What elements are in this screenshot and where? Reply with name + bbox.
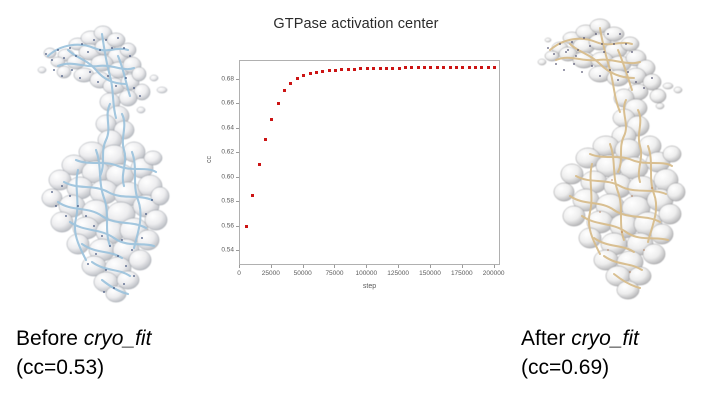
y-tick-label: 0.56 [221,222,234,229]
y-tick-label: 0.60 [221,173,234,180]
data-point [321,70,324,73]
caption-after-value: (cc=0.69) [521,354,639,383]
data-point [455,66,458,69]
x-tick-label: 50000 [294,270,312,277]
x-tick-mark [430,265,431,268]
data-point [461,66,464,69]
density-map-after-svg [512,0,712,320]
data-point [429,66,432,69]
data-point [359,67,362,70]
data-point [277,102,280,105]
data-point [309,72,312,75]
data-point [391,67,394,70]
data-point [474,66,477,69]
y-tick-label: 0.66 [221,100,234,107]
caption-after-prefix: After [521,327,571,350]
y-tick-label: 0.54 [221,247,234,254]
y-tick-label: 0.64 [221,124,234,131]
x-tick-mark [303,265,304,268]
data-point [372,67,375,70]
data-point [417,66,420,69]
data-point [404,66,407,69]
data-point [493,66,496,69]
data-point [353,68,356,71]
data-point [347,68,350,71]
x-tick-label: 125000 [387,270,409,277]
x-tick-label: 175000 [451,270,473,277]
x-tick-mark [334,265,335,268]
caption-before: Before cryo_fit (cc=0.53) [16,325,151,383]
x-tick-mark [239,265,240,268]
data-point [302,74,305,77]
data-point [442,66,445,69]
x-tick-label: 75000 [325,270,343,277]
data-point [423,66,426,69]
caption-before-value: (cc=0.53) [16,354,151,383]
data-point [283,89,286,92]
data-point [366,67,369,70]
data-point [289,82,292,85]
data-point [334,69,337,72]
caption-after-program: cryo_fit [571,327,639,350]
data-point [245,225,248,228]
data-point [487,66,490,69]
x-axis-label: step [239,283,500,290]
data-point [296,77,299,80]
y-tick-label: 0.58 [221,198,234,205]
data-point [251,194,254,197]
data-point [270,118,273,121]
x-tick-mark [494,265,495,268]
y-tick-label: 0.68 [221,75,234,82]
data-point [449,66,452,69]
data-point [385,67,388,70]
cc-vs-step-chart: GTPase activation center cc step 0.540.5… [200,8,512,308]
data-point [340,68,343,71]
data-point [468,66,471,69]
caption-after: After cryo_fit (cc=0.69) [521,325,639,383]
data-point [264,138,267,141]
data-point [315,71,318,74]
caption-before-prefix: Before [16,327,84,350]
data-point [379,67,382,70]
x-tick-mark [398,265,399,268]
y-axis-label: cc [206,156,213,163]
structure-render-after [512,0,712,320]
x-tick-mark [462,265,463,268]
x-tick-label: 25000 [262,270,280,277]
data-point [480,66,483,69]
x-tick-mark [366,265,367,268]
x-tick-label: 0 [237,270,241,277]
chart-title: GTPase activation center [200,16,512,32]
x-tick-label: 150000 [419,270,441,277]
x-tick-label: 200000 [483,270,505,277]
data-point [436,66,439,69]
x-tick-mark [271,265,272,268]
data-point [258,163,261,166]
data-point [410,66,413,69]
structure-render-before [6,0,206,320]
plot-area [239,60,500,265]
density-map-before-svg [6,0,206,320]
data-point [328,69,331,72]
caption-before-program: cryo_fit [84,327,152,350]
y-tick-label: 0.62 [221,149,234,156]
data-point [398,67,401,70]
x-tick-label: 100000 [355,270,377,277]
